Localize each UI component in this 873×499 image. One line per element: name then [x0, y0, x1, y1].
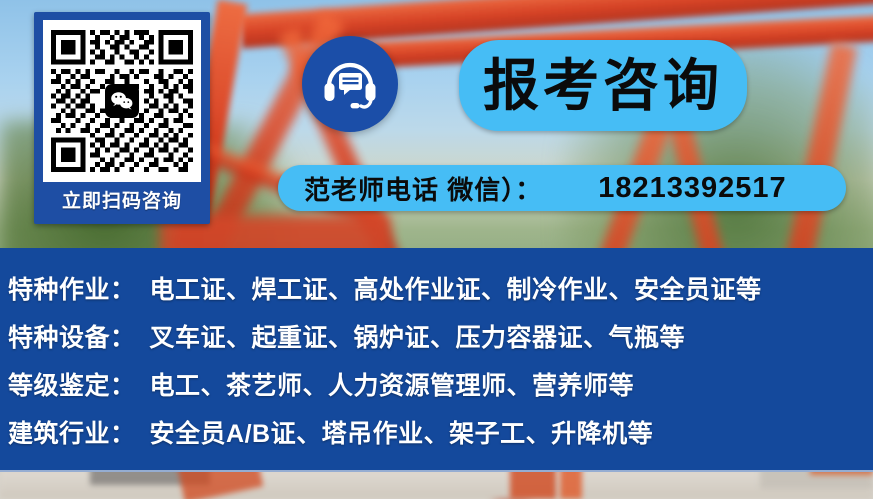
category-label: 建筑行业：: [8, 414, 136, 450]
qr-code-matrix: [51, 30, 193, 172]
category-row-special-equipment: 特种设备： 叉车证、起重证、锅炉证、压力容器证、气瓶等: [0, 312, 873, 360]
category-items: 安全员A/B证、塔吊作业、架子工、升降机等: [150, 414, 654, 450]
phone-badge[interactable]: 范老师电话 微信）： 18213392517: [278, 165, 846, 211]
qr-card-caption: 立即扫码咨询: [62, 188, 182, 216]
category-items: 叉车证、起重证、锅炉证、压力容器证、气瓶等: [150, 318, 686, 354]
category-items: 电工、茶艺师、人力资源管理师、营养师等: [150, 366, 635, 402]
category-items: 电工证、焊工证、高处作业证、制冷作业、安全员证等: [150, 270, 762, 306]
certificate-categories-panel: 特种作业： 电工证、焊工证、高处作业证、制冷作业、安全员证等 特种设备： 叉车证…: [0, 248, 873, 472]
phone-number[interactable]: 18213392517: [598, 172, 786, 205]
phone-badge-label: 范老师电话 微信）：: [304, 170, 542, 207]
category-label: 特种作业：: [8, 270, 136, 306]
category-row-grade-appraisal: 等级鉴定： 电工、茶艺师、人力资源管理师、营养师等: [0, 360, 873, 408]
category-row-construction-industry: 建筑行业： 安全员A/B证、塔吊作业、架子工、升降机等: [0, 408, 873, 456]
category-label: 特种设备：: [8, 318, 136, 354]
headset-glyph: [321, 56, 379, 112]
qr-code-card[interactable]: 立即扫码咨询: [34, 12, 210, 224]
wechat-icon: [105, 84, 139, 118]
title-badge[interactable]: 报考咨询: [459, 40, 747, 131]
promo-banner: 立即扫码咨询 报考咨询 范老师电话 微信）： 18213392517 特: [0, 0, 873, 499]
wechat-glyph: [110, 91, 134, 111]
title-badge-text: 报考咨询: [483, 58, 723, 114]
category-label: 等级鉴定：: [8, 366, 136, 402]
qr-code-image[interactable]: [43, 20, 201, 182]
headset-support-icon: [302, 36, 398, 132]
category-row-special-operations: 特种作业： 电工证、焊工证、高处作业证、制冷作业、安全员证等: [0, 264, 873, 312]
panel-bottom-edge: [0, 470, 873, 472]
